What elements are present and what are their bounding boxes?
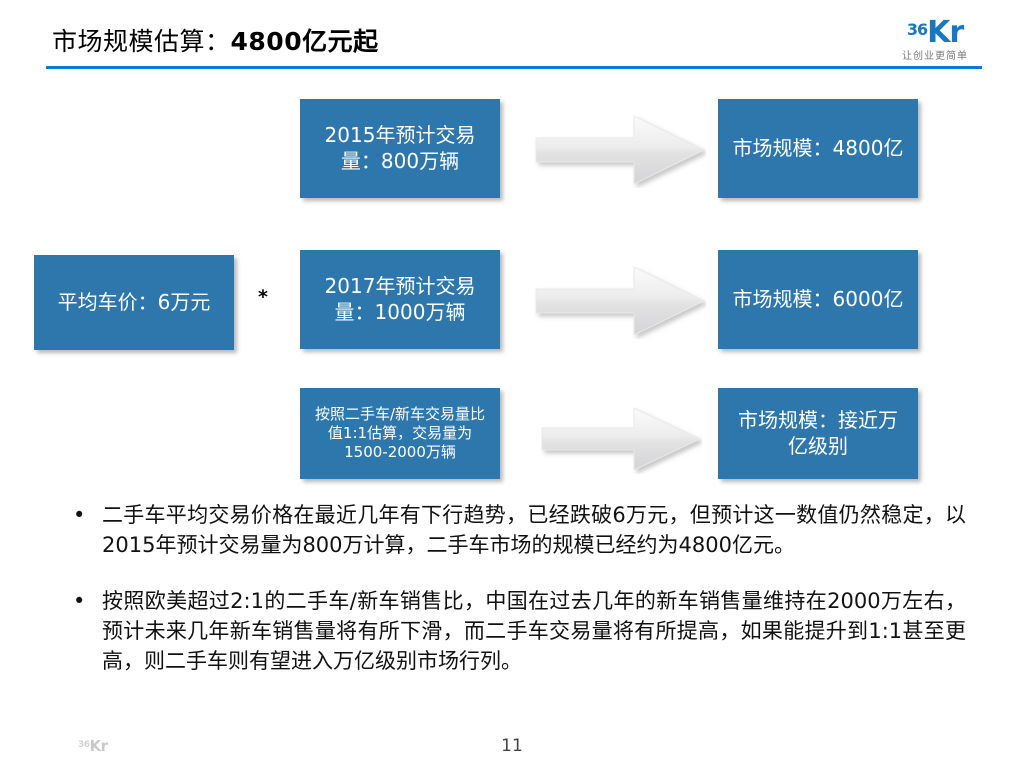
list-item: • 按照欧美超过2:1的二手车/新车销售比，中国在过去几年的新车销售量维持在20…	[66, 586, 966, 676]
brand-logo: 36Kr 让创业更简单	[880, 18, 990, 62]
brand-logo-kr: Kr	[927, 15, 963, 50]
multiply-operator: *	[258, 288, 268, 307]
arrow-right-icon-1	[534, 112, 706, 188]
page-title-emphasis: 4800亿元起	[231, 27, 379, 56]
arrow-right-icon-3	[540, 404, 702, 474]
title-divider	[46, 66, 982, 69]
page-title: 市场规模估算：4800亿元起	[52, 22, 379, 58]
bullet-list: • 二手车平均交易价格在最近几年有下行趋势，已经跌破6万元，但预计这一数值仍然稳…	[66, 500, 966, 702]
box-market-size-4800: 市场规模：4800亿	[718, 99, 918, 198]
box-market-size-trillion: 市场规模：接近万亿级别	[718, 388, 918, 479]
brand-logo-36: 36	[907, 20, 927, 39]
box-average-price: 平均车价：6万元	[34, 255, 234, 350]
brand-tagline: 让创业更简单	[880, 52, 990, 62]
list-item: • 二手车平均交易价格在最近几年有下行趋势，已经跌破6万元，但预计这一数值仍然稳…	[66, 500, 966, 560]
box-market-size-6000: 市场规模：6000亿	[718, 250, 918, 349]
box-ratio-estimate: 按照二手车/新车交易量比值1:1估算，交易量为1500-2000万辆	[300, 388, 500, 479]
page-number: 11	[0, 736, 1024, 756]
bullet-marker-icon: •	[66, 500, 102, 530]
arrow-right-icon-2	[534, 263, 706, 339]
box-volume-2015: 2015年预计交易量：800万辆	[300, 99, 500, 198]
slide-canvas: 市场规模估算：4800亿元起 36Kr 让创业更简单 平均车价：6万元 * 20…	[0, 0, 1024, 768]
box-volume-2017: 2017年预计交易量：1000万辆	[300, 250, 500, 349]
bullet-marker-icon: •	[66, 586, 102, 616]
brand-logo-mark: 36Kr	[880, 18, 990, 48]
bullet-text: 二手车平均交易价格在最近几年有下行趋势，已经跌破6万元，但预计这一数值仍然稳定，…	[102, 500, 966, 560]
page-title-normal: 市场规模估算：	[52, 27, 231, 56]
bullet-text: 按照欧美超过2:1的二手车/新车销售比，中国在过去几年的新车销售量维持在2000…	[102, 586, 966, 676]
